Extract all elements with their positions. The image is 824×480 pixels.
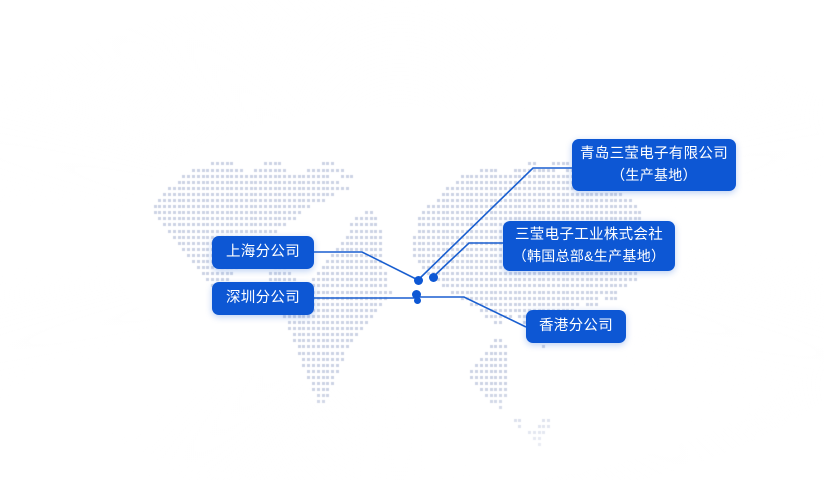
label-shanghai[interactable]: 上海分公司: [212, 236, 314, 269]
label-qingdao-line1: 青岛三莹电子有限公司: [580, 144, 728, 165]
label-hongkong-line1: 香港分公司: [539, 316, 613, 337]
label-qingdao-line2: （生产基地）: [611, 165, 697, 185]
marker-korea[interactable]: [429, 273, 438, 282]
label-shanghai-line1: 上海分公司: [226, 242, 300, 263]
label-shenzhen-line1: 深圳分公司: [226, 288, 300, 309]
label-korea-line2: （韩国总部&生产基地）: [513, 246, 666, 266]
connector-korea: [433, 243, 503, 277]
label-korea-hq[interactable]: 三莹电子工业株式会社 （韩国总部&生产基地）: [503, 221, 675, 271]
connector-shanghai: [314, 252, 418, 280]
connector-hongkong: [417, 297, 526, 327]
connector-lines-layer: [0, 0, 824, 480]
label-korea-line1: 三莹电子工业株式会社: [515, 225, 663, 246]
marker-hongkong[interactable]: [414, 297, 421, 304]
world-map-infographic: 青岛三莹电子有限公司 （生产基地） 三莹电子工业株式会社 （韩国总部&生产基地）…: [0, 0, 824, 480]
marker-qingdao[interactable]: [414, 276, 423, 285]
label-hongkong[interactable]: 香港分公司: [526, 310, 626, 343]
label-shenzhen[interactable]: 深圳分公司: [212, 282, 314, 315]
label-qingdao[interactable]: 青岛三莹电子有限公司 （生产基地）: [572, 139, 736, 191]
